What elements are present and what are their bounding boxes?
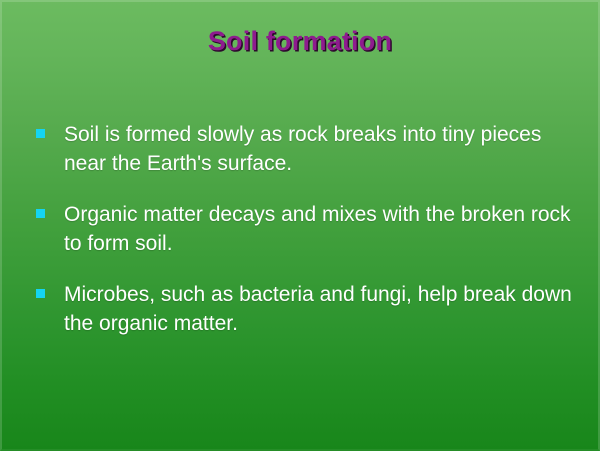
square-bullet-icon (36, 289, 45, 298)
bullet-list-item-text: Soil is formed slowly as rock breaks int… (64, 120, 576, 178)
bullet-list-item: Soil is formed slowly as rock breaks int… (36, 120, 576, 178)
bullet-list-item-text: Organic matter decays and mixes with the… (64, 200, 576, 258)
presentation-slide: Soil formation Soil is formed slowly as … (0, 0, 600, 451)
bullet-list-item: Microbes, such as bacteria and fungi, he… (36, 280, 576, 338)
square-bullet-icon (36, 209, 45, 218)
bullet-list-item-text: Microbes, such as bacteria and fungi, he… (64, 280, 576, 338)
square-bullet-icon (36, 129, 45, 138)
slide-body-bullet-list: Soil is formed slowly as rock breaks int… (36, 120, 576, 338)
bullet-list-item: Organic matter decays and mixes with the… (36, 200, 576, 258)
slide-title: Soil formation (0, 26, 600, 57)
